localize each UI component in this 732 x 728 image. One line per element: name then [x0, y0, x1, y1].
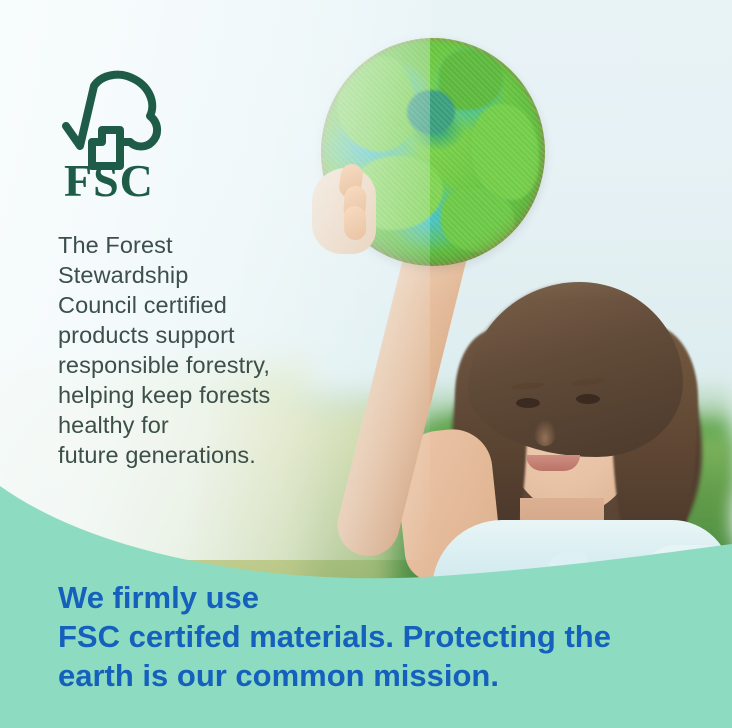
- continent-shape: [471, 104, 539, 200]
- nose: [534, 420, 556, 446]
- hair-front: [468, 282, 683, 457]
- eye-left: [516, 398, 540, 408]
- fsc-description-text: The Forest Stewardship Council certified…: [58, 230, 358, 470]
- continent-shape: [441, 188, 515, 252]
- headline-text: We firmly use FSC certifed materials. Pr…: [58, 578, 698, 695]
- fsc-info-block: FSC The Forest Stewardship Council certi…: [58, 70, 358, 470]
- fsc-wordmark: FSC: [64, 155, 154, 200]
- fsc-tree-checkmark-icon: FSC: [58, 70, 170, 200]
- eye-right: [576, 394, 600, 404]
- fsc-banner: FSC The Forest Stewardship Council certi…: [0, 0, 732, 728]
- continent-shape: [439, 50, 503, 110]
